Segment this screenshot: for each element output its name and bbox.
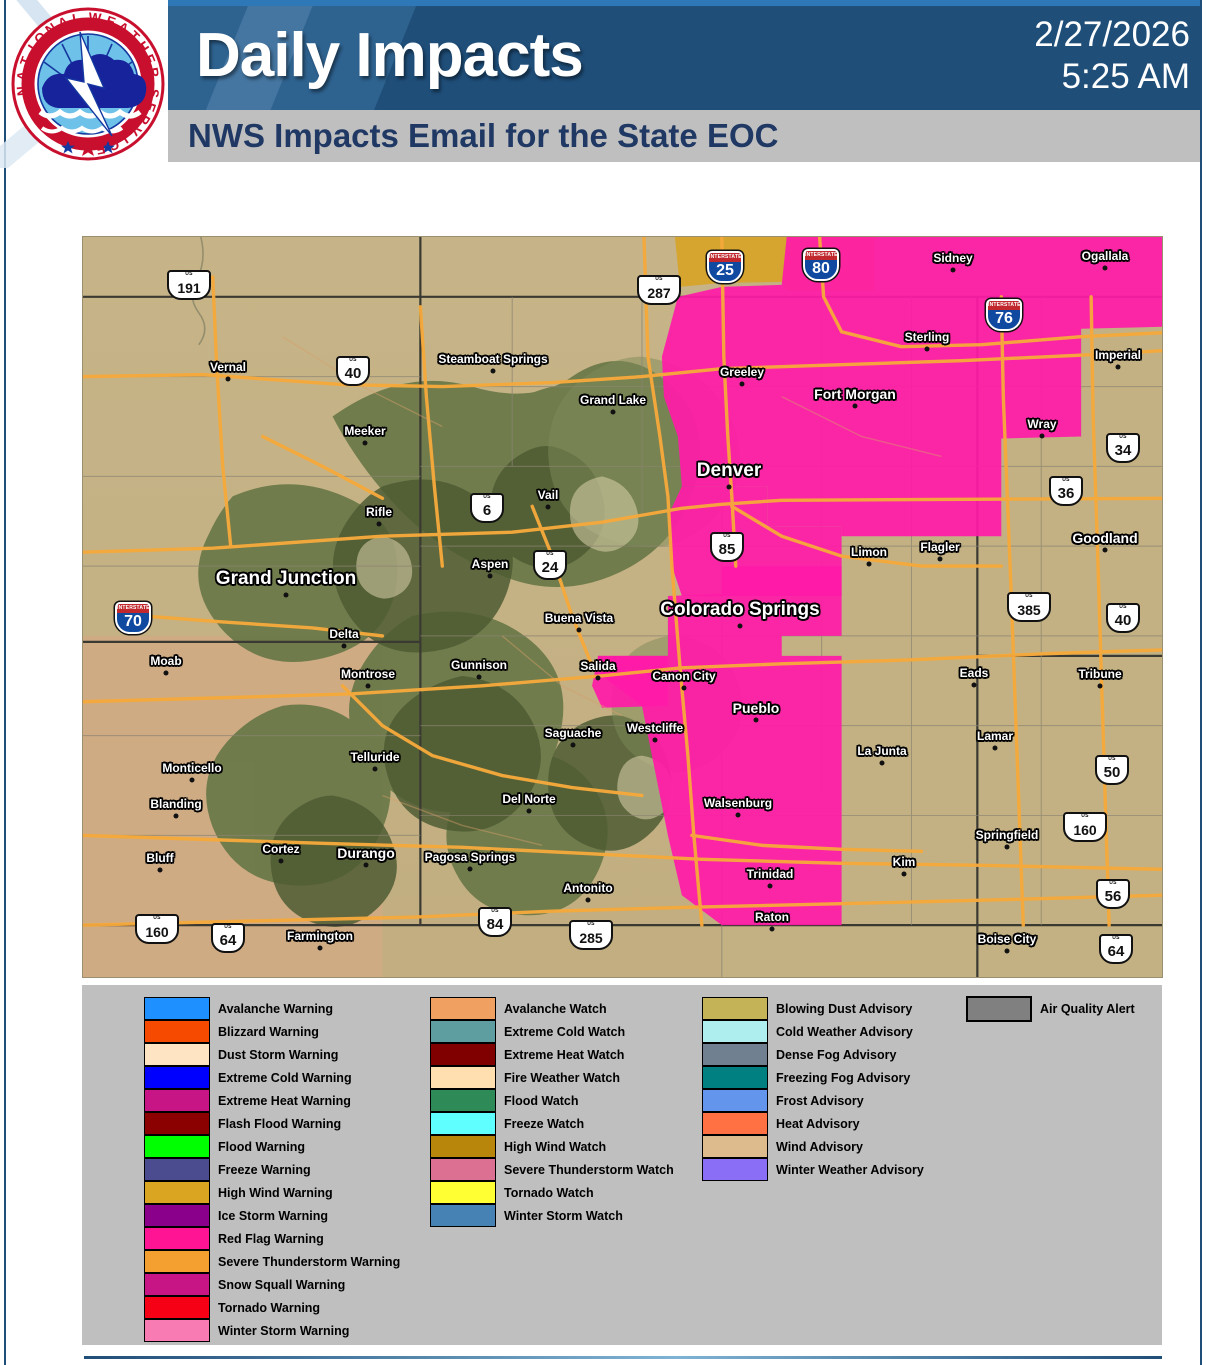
legend-item-label: Tornado Warning [218, 1301, 320, 1315]
interstate-shield-icon: INTERSTATE76 [986, 299, 1022, 331]
legend-item: Extreme Cold Warning [144, 1066, 400, 1089]
us-highway-shield-icon: US36 [1049, 476, 1083, 506]
shield-number: 6 [483, 503, 491, 518]
map-city-dot [377, 522, 382, 527]
hazard-area-red-flag-warning-canon-city [592, 656, 668, 708]
legend-color-swatch [430, 1020, 496, 1043]
page-subtitle: NWS Impacts Email for the State EOC [188, 113, 778, 159]
legend-item-label: Flood Watch [504, 1094, 579, 1108]
us-highway-shield-icon: US285 [569, 920, 613, 950]
legend-color-swatch [144, 1112, 210, 1135]
legend-item: Tornado Warning [144, 1296, 400, 1319]
legend-item: Frost Advisory [702, 1089, 924, 1112]
legend-item: Dense Fog Advisory [702, 1043, 924, 1066]
legend-item-label: Air Quality Alert [1040, 1002, 1135, 1016]
legend-item: Tornado Watch [430, 1181, 674, 1204]
interstate-shield-icon: INTERSTATE80 [803, 249, 839, 281]
map-city-dot [577, 628, 582, 633]
page-border-left [4, 0, 6, 1365]
legend-item-label: Freeze Warning [218, 1163, 311, 1177]
shield-number: 385 [1017, 603, 1040, 617]
legend-item: Blizzard Warning [144, 1020, 400, 1043]
map-city-dot [1040, 434, 1045, 439]
map-city-dot [902, 872, 907, 877]
map-city-dot [1103, 548, 1108, 553]
shield-number: 40 [1115, 613, 1132, 628]
map-city-dot [373, 767, 378, 772]
map-city-dot [190, 778, 195, 783]
svg-text:W: W [88, 10, 102, 26]
page-border-right [1200, 0, 1202, 1365]
legend-column-warnings: Avalanche WarningBlizzard WarningDust St… [144, 997, 400, 1342]
svg-text:N: N [14, 85, 30, 96]
legend-item-label: High Wind Warning [218, 1186, 333, 1200]
legend-color-swatch [430, 1089, 496, 1112]
legend-color-swatch [702, 1020, 768, 1043]
map-city-dot [342, 644, 347, 649]
legend-item-label: Freeze Watch [504, 1117, 584, 1131]
shield-number: 64 [1108, 944, 1125, 959]
legend-color-swatch [144, 1250, 210, 1273]
map-city-dot [754, 718, 759, 723]
map-city-dot [488, 574, 493, 579]
map-city-dot [740, 382, 745, 387]
shield-number: 160 [1073, 823, 1096, 837]
legend-color-swatch [144, 1181, 210, 1204]
map-city-dot [1005, 845, 1010, 850]
legend-item: Heat Advisory [702, 1112, 924, 1135]
legend-item: Flood Warning [144, 1135, 400, 1158]
legend-color-swatch [144, 1158, 210, 1181]
map-city-dot [477, 675, 482, 680]
map-city-dot [653, 738, 658, 743]
map-city-dot [164, 671, 169, 676]
legend-item-label: Extreme Cold Watch [504, 1025, 625, 1039]
legend-item-label: Extreme Heat Watch [504, 1048, 624, 1062]
legend-color-swatch [144, 1066, 210, 1089]
page-border-bottom [84, 1356, 1162, 1359]
map-city-dot [738, 624, 743, 629]
map-city-dot [1103, 266, 1108, 271]
us-highway-shield-icon: US50 [1095, 755, 1129, 785]
legend-item: Severe Thunderstorm Watch [430, 1158, 674, 1181]
shield-number: 70 [124, 614, 142, 630]
legend-color-swatch [144, 1135, 210, 1158]
legend-item-label: Dense Fog Advisory [776, 1048, 896, 1062]
hazard-legend: Avalanche WarningBlizzard WarningDust St… [82, 985, 1162, 1345]
legend-item-label: Avalanche Warning [218, 1002, 333, 1016]
map-city-dot [1005, 949, 1010, 954]
legend-item-label: Severe Thunderstorm Watch [504, 1163, 674, 1177]
legend-color-swatch [144, 997, 210, 1020]
us-highway-shield-icon: US6 [470, 493, 504, 523]
legend-item: Severe Thunderstorm Warning [144, 1250, 400, 1273]
legend-color-swatch [144, 1296, 210, 1319]
legend-color-swatch [430, 1043, 496, 1066]
legend-item-label: Wind Advisory [776, 1140, 863, 1154]
legend-item: Air Quality Alert [966, 997, 1135, 1020]
shield-number: 85 [719, 542, 736, 557]
map-city-dot [993, 746, 998, 751]
legend-item: Flash Flood Warning [144, 1112, 400, 1135]
legend-item: Fire Weather Watch [430, 1066, 674, 1089]
us-highway-shield-icon: US34 [1106, 433, 1140, 463]
legend-item-label: Tornado Watch [504, 1186, 594, 1200]
map-city-dot [880, 761, 885, 766]
us-highway-shield-icon: US24 [533, 550, 567, 580]
us-highway-shield-icon: US160 [135, 914, 179, 944]
shield-number: 25 [716, 263, 734, 279]
map-city-dot [853, 404, 858, 409]
shield-number: 76 [995, 311, 1013, 327]
us-highway-shield-icon: US160 [1063, 812, 1107, 842]
us-highway-shield-icon: US40 [336, 356, 370, 386]
map-city-dot [736, 813, 741, 818]
us-highway-shield-icon: US287 [637, 275, 681, 305]
legend-item-label: Red Flag Warning [218, 1232, 324, 1246]
legend-color-swatch [702, 1112, 768, 1135]
shield-number: 40 [345, 366, 362, 381]
map-city-dot [586, 898, 591, 903]
legend-column-watches: Avalanche WatchExtreme Cold WatchExtreme… [430, 997, 674, 1227]
legend-item-label: Frost Advisory [776, 1094, 864, 1108]
map-city-dot [363, 441, 368, 446]
legend-color-swatch [702, 1043, 768, 1066]
legend-item: Avalanche Watch [430, 997, 674, 1020]
map-city-dot [596, 676, 601, 681]
us-highway-shield-icon: US64 [1099, 934, 1133, 964]
legend-item: Cold Weather Advisory [702, 1020, 924, 1043]
legend-color-swatch [430, 997, 496, 1020]
map-city-dot [174, 814, 179, 819]
legend-color-swatch [702, 1158, 768, 1181]
shield-number: 285 [579, 931, 602, 945]
hazard-map[interactable]: VernalSteamboat SpringsGrand LakeMeekerS… [82, 236, 1163, 978]
map-city-dot [1098, 684, 1103, 689]
legend-item-label: Snow Squall Warning [218, 1278, 345, 1292]
us-highway-shield-icon: US56 [1096, 879, 1130, 909]
shield-number: 64 [220, 933, 237, 948]
legend-item: Winter Storm Watch [430, 1204, 674, 1227]
us-highway-shield-icon: US84 [478, 907, 512, 937]
legend-item: Freeze Warning [144, 1158, 400, 1181]
legend-color-swatch [144, 1089, 210, 1112]
legend-item-label: Winter Storm Warning [218, 1324, 349, 1338]
map-city-dot [527, 809, 532, 814]
legend-color-swatch [430, 1112, 496, 1135]
page-title: Daily Impacts [196, 10, 583, 102]
legend-color-swatch [144, 1273, 210, 1296]
nws-logo-icon: N A T I O N A L W E A T H E R S E R V I [8, 4, 168, 164]
map-city-dot [768, 884, 773, 889]
legend-item-label: Avalanche Watch [504, 1002, 607, 1016]
legend-color-swatch [966, 996, 1032, 1022]
legend-color-swatch [702, 1066, 768, 1089]
legend-item: Freezing Fog Advisory [702, 1066, 924, 1089]
legend-column-advisories: Blowing Dust AdvisoryCold Weather Adviso… [702, 997, 924, 1181]
header: Daily Impacts NWS Impacts Email for the … [0, 0, 1206, 168]
legend-item: Wind Advisory [702, 1135, 924, 1158]
map-city-dot [546, 505, 551, 510]
map-city-dot [1116, 365, 1121, 370]
map-city-dot [611, 410, 616, 415]
timestamp: 2/27/2026 5:25 AM [1034, 14, 1190, 98]
legend-item-label: Extreme Heat Warning [218, 1094, 351, 1108]
map-city-dot [867, 562, 872, 567]
us-highway-shield-icon: US40 [1106, 603, 1140, 633]
legend-item-label: Flash Flood Warning [218, 1117, 341, 1131]
legend-color-swatch [144, 1204, 210, 1227]
legend-item-label: Cold Weather Advisory [776, 1025, 913, 1039]
legend-item-label: Heat Advisory [776, 1117, 860, 1131]
map-city-dot [925, 347, 930, 352]
date-text: 2/27/2026 [1034, 14, 1190, 56]
legend-item: Winter Weather Advisory [702, 1158, 924, 1181]
map-canvas [83, 237, 1162, 977]
shield-number: 56 [1105, 889, 1122, 904]
shield-number: 191 [177, 281, 200, 295]
legend-color-swatch [144, 1043, 210, 1066]
us-highway-shield-icon: US191 [167, 270, 211, 300]
shield-number: 34 [1115, 443, 1132, 458]
legend-color-swatch [144, 1227, 210, 1250]
map-city-dot [951, 268, 956, 273]
map-city-dot [571, 743, 576, 748]
map-city-dot [770, 927, 775, 932]
legend-color-swatch [702, 1135, 768, 1158]
legend-item: High Wind Watch [430, 1135, 674, 1158]
legend-item-label: Winter Storm Watch [504, 1209, 623, 1223]
legend-item: High Wind Warning [144, 1181, 400, 1204]
legend-item: Snow Squall Warning [144, 1273, 400, 1296]
legend-item: Extreme Cold Watch [430, 1020, 674, 1043]
shield-number: 50 [1104, 765, 1121, 780]
legend-item-label: Ice Storm Warning [218, 1209, 328, 1223]
map-city-dot [682, 686, 687, 691]
page: Daily Impacts NWS Impacts Email for the … [0, 0, 1206, 1365]
map-city-dot [226, 377, 231, 382]
legend-color-swatch [702, 1089, 768, 1112]
map-city-dot [366, 684, 371, 689]
legend-item-label: Freezing Fog Advisory [776, 1071, 910, 1085]
interstate-shield-icon: INTERSTATE70 [115, 602, 151, 634]
map-city-dot [468, 867, 473, 872]
legend-color-swatch [430, 1181, 496, 1204]
legend-item-label: Fire Weather Watch [504, 1071, 620, 1085]
us-highway-shield-icon: US85 [710, 532, 744, 562]
legend-item: Extreme Heat Warning [144, 1089, 400, 1112]
interstate-shield-icon: INTERSTATE25 [707, 251, 743, 283]
map-city-dot [284, 593, 289, 598]
map-city-dot [491, 369, 496, 374]
legend-column-alerts: Air Quality Alert [966, 997, 1135, 1020]
legend-item: Red Flag Warning [144, 1227, 400, 1250]
shield-number: 160 [145, 925, 168, 939]
legend-color-swatch [144, 1020, 210, 1043]
shield-number: 36 [1058, 486, 1075, 501]
time-text: 5:25 AM [1034, 56, 1190, 98]
map-city-dot [279, 859, 284, 864]
shield-number: 84 [487, 917, 504, 932]
map-city-dot [972, 683, 977, 688]
legend-color-swatch [430, 1135, 496, 1158]
legend-item: Extreme Heat Watch [430, 1043, 674, 1066]
legend-item: Avalanche Warning [144, 997, 400, 1020]
shield-number: 287 [647, 286, 670, 300]
map-city-dot [938, 557, 943, 562]
legend-item: Flood Watch [430, 1089, 674, 1112]
legend-item-label: Dust Storm Warning [218, 1048, 338, 1062]
legend-item-label: Extreme Cold Warning [218, 1071, 352, 1085]
legend-item: Ice Storm Warning [144, 1204, 400, 1227]
legend-color-swatch [144, 1319, 210, 1342]
legend-item-label: Blowing Dust Advisory [776, 1002, 912, 1016]
legend-item: Winter Storm Warning [144, 1319, 400, 1342]
us-highway-shield-icon: US385 [1007, 592, 1051, 622]
us-highway-shield-icon: US64 [211, 923, 245, 953]
legend-item: Dust Storm Warning [144, 1043, 400, 1066]
legend-color-swatch [702, 997, 768, 1020]
map-city-dot [318, 946, 323, 951]
shield-number: 80 [812, 261, 830, 277]
legend-item: Blowing Dust Advisory [702, 997, 924, 1020]
legend-item-label: Winter Weather Advisory [776, 1163, 924, 1177]
map-city-dot [158, 868, 163, 873]
legend-color-swatch [430, 1204, 496, 1227]
legend-color-swatch [430, 1066, 496, 1089]
legend-item: Freeze Watch [430, 1112, 674, 1135]
shield-number: 24 [542, 560, 559, 575]
legend-item-label: Severe Thunderstorm Warning [218, 1255, 400, 1269]
map-city-dot [364, 863, 369, 868]
map-city-dot [727, 485, 732, 490]
legend-item-label: Blizzard Warning [218, 1025, 319, 1039]
legend-item-label: High Wind Watch [504, 1140, 606, 1154]
legend-item-label: Flood Warning [218, 1140, 305, 1154]
legend-color-swatch [430, 1158, 496, 1181]
